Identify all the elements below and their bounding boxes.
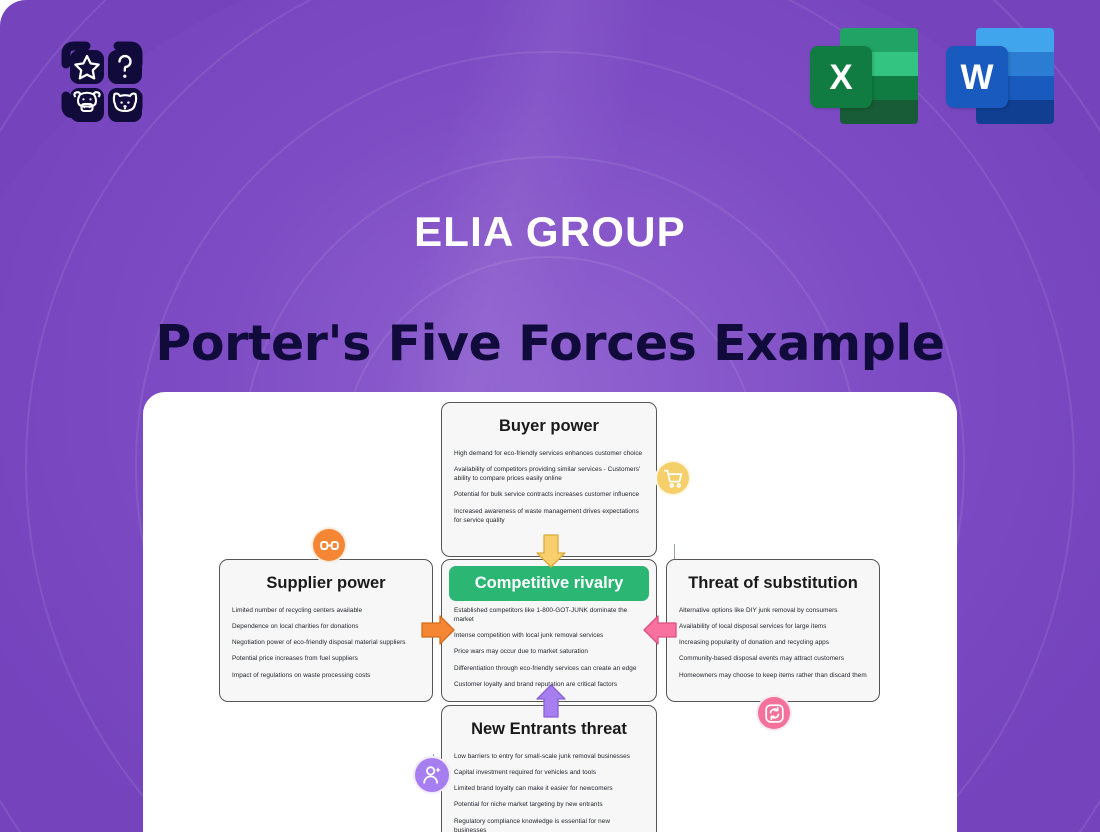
excel-letter: X — [810, 46, 872, 108]
five-forces-diagram: Buyer power High demand for eco-friendly… — [143, 392, 957, 832]
force-points-buyer: High demand for eco-friendly services en… — [454, 449, 644, 526]
badge-substitution[interactable] — [756, 695, 792, 731]
force-point: Differentiation through eco-friendly ser… — [454, 664, 644, 673]
force-point: Impact of regulations on waste processin… — [232, 671, 420, 680]
force-point: Established competitors like 1-800-GOT-J… — [454, 606, 644, 625]
shopping-cart-icon — [663, 468, 684, 489]
force-point: Availability of competitors providing si… — [454, 465, 644, 484]
force-points-rivalry: Established competitors like 1-800-GOT-J… — [454, 606, 644, 690]
link-chain-icon — [319, 535, 340, 556]
brand-name: ELIA GROUP — [0, 208, 1100, 256]
force-points-substitution: Alternative options like DIY junk remova… — [679, 606, 867, 680]
qr-frame-logo — [46, 28, 158, 132]
force-point: Increasing popularity of donation and re… — [679, 638, 867, 647]
force-point: Community-based disposal events may attr… — [679, 654, 867, 663]
force-box-substitution[interactable]: Threat of substitution Alternative optio… — [666, 559, 880, 702]
force-point: Limited brand loyalty can make it easier… — [454, 784, 644, 793]
badge-buyer[interactable] — [655, 460, 691, 496]
force-point: Alternative options like DIY junk remova… — [679, 606, 867, 615]
add-user-icon — [421, 764, 443, 786]
force-points-supplier: Limited number of recycling centers avai… — [232, 606, 420, 680]
force-point: Limited number of recycling centers avai… — [232, 606, 420, 615]
force-point: Dependence on local charities for donati… — [232, 622, 420, 631]
force-point: Intense competition with local junk remo… — [454, 631, 644, 640]
force-box-new-entrants[interactable]: New Entrants threat Low barriers to entr… — [441, 705, 657, 832]
refresh-swap-icon — [764, 703, 785, 724]
force-title-substitution: Threat of substitution — [675, 567, 871, 598]
excel-icon[interactable]: X — [810, 28, 918, 124]
page-title: Porter's Five Forces Example — [0, 315, 1100, 372]
force-point: Potential price increases from fuel supp… — [232, 654, 420, 663]
force-point: Increased awareness of waste management … — [454, 507, 644, 526]
force-points-new-entrants: Low barriers to entry for small-scale ju… — [454, 752, 644, 832]
force-title-buyer: Buyer power — [450, 410, 648, 441]
force-point: Price wars may occur due to market satur… — [454, 647, 644, 656]
force-point: Availability of local disposal services … — [679, 622, 867, 631]
force-point: Potential for niche market targeting by … — [454, 800, 644, 809]
tile-dog — [108, 88, 142, 122]
force-point: Regulatory compliance knowledge is essen… — [454, 817, 644, 832]
force-point: High demand for eco-friendly services en… — [454, 449, 644, 458]
badge-new-entrants[interactable] — [413, 756, 451, 794]
office-icons: X W — [810, 28, 1054, 124]
force-title-supplier: Supplier power — [228, 567, 424, 598]
force-point: Capital investment required for vehicles… — [454, 768, 644, 777]
slide-canvas: X W ELIA GROUP Porter's Five Forces Exam… — [0, 0, 1100, 832]
force-title-rivalry: Competitive rivalry — [449, 566, 649, 601]
word-letter: W — [946, 46, 1008, 108]
force-point: Homeowners may choose to keep items rath… — [679, 671, 867, 680]
diagram-card: Buyer power High demand for eco-friendly… — [143, 392, 957, 832]
force-point: Negotiation power of eco-friendly dispos… — [232, 638, 420, 647]
force-point: Low barriers to entry for small-scale ju… — [454, 752, 644, 761]
force-point: Potential for bulk service contracts inc… — [454, 490, 644, 499]
word-icon[interactable]: W — [946, 28, 1054, 124]
badge-supplier[interactable] — [311, 527, 347, 563]
force-box-supplier[interactable]: Supplier power Limited number of recycli… — [219, 559, 433, 702]
